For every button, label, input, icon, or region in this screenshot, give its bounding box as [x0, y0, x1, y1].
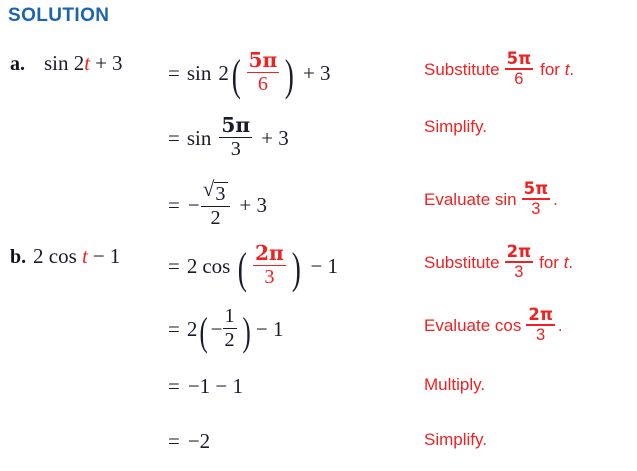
- reason-prefix: Substitute: [424, 253, 500, 273]
- rhs-plain-value: −1 − 1: [180, 374, 243, 399]
- fraction-numerator: 5π: [247, 50, 280, 72]
- reason-annotation: Simplify.: [424, 117, 487, 137]
- reason-annotation: Substitute 2π 3 for t.: [424, 245, 573, 281]
- fraction-2pi-over-3: 2π 3: [253, 243, 286, 287]
- rhs-plain-value: −2: [180, 429, 210, 454]
- rhs-tail: + 3: [233, 193, 267, 218]
- reason-prefix: Evaluate cos: [424, 316, 521, 336]
- lhs-variable-t: t: [82, 244, 88, 268]
- fraction-denominator: 3: [253, 265, 286, 288]
- rhs-function-sin: sin: [180, 126, 214, 151]
- reason-fraction-numerator: 5π: [505, 51, 534, 68]
- fraction-denominator: 6: [247, 72, 280, 95]
- reason-annotation: Evaluate sin 5π 3 .: [424, 182, 558, 218]
- lhs-constant: 3: [112, 51, 123, 75]
- radical-sign: √: [203, 179, 215, 200]
- rhs-expression-a1: = sin 2 ( 5π 6 ) + 3: [168, 51, 331, 95]
- reason-suffix: .: [553, 190, 558, 210]
- rhs-expression-b2: = 2 ( − 1 2 ) − 1: [168, 307, 284, 351]
- fraction-5pi-over-6: 5π 6: [247, 50, 280, 94]
- lhs-expression: 2 cos t−1: [33, 244, 120, 269]
- fraction-numerator: 1: [223, 306, 237, 328]
- equation-row: = − √ 3 2 + 3 Evaluate sin 5π 3 .: [0, 165, 637, 223]
- equation-row: = 2 ( − 1 2 ) − 1 Evaluate cos 2π 3 .: [0, 291, 637, 349]
- radicand: 3: [214, 182, 228, 205]
- equation-row: a. sin 2t+3 = sin 2 ( 5π 6 ) + 3 Substit…: [0, 35, 637, 93]
- rhs-coefficient: 2: [180, 254, 198, 279]
- fraction-denominator: 2: [201, 206, 231, 229]
- equals-sign: =: [168, 193, 180, 218]
- rhs-expression-a3: = − √ 3 2 + 3: [168, 181, 267, 229]
- equals-sign: =: [168, 317, 180, 342]
- equals-sign: =: [168, 374, 180, 399]
- reason-annotation: Substitute 5π 6 for t.: [424, 52, 574, 88]
- rhs-expression-a2: = sin 5π 3 + 3: [168, 116, 289, 160]
- minus-operator: −: [88, 244, 110, 268]
- rhs-tail: + 3: [255, 126, 289, 151]
- part-label-b: b.: [10, 246, 26, 269]
- reason-fraction-numerator: 5π: [522, 181, 551, 198]
- rhs-tail: + 3: [297, 61, 331, 86]
- equation-row: = −1 − 1 Multiply.: [0, 358, 637, 416]
- page-title: SOLUTION: [8, 5, 109, 27]
- reason-prefix: Simplify.: [424, 117, 487, 137]
- equation-row: = sin 5π 3 + 3 Simplify.: [0, 100, 637, 158]
- reason-fraction-denominator: 3: [505, 261, 534, 280]
- lhs-constant: 1: [110, 244, 121, 268]
- equation-row: = −2 Simplify.: [0, 413, 637, 471]
- reason-prefix: Substitute: [424, 60, 500, 80]
- radical-icon: √ 3: [203, 180, 229, 205]
- equals-sign: =: [168, 429, 180, 454]
- reason-fraction: 2π 3: [526, 307, 555, 343]
- equals-sign: =: [168, 61, 180, 86]
- equals-sign: =: [168, 254, 180, 279]
- reason-annotation: Evaluate cos 2π 3 .: [424, 308, 563, 344]
- rhs-tail: − 1: [253, 317, 284, 342]
- fraction-sqrt3-over-2: √ 3 2: [201, 180, 231, 228]
- rhs-function-cos: cos: [197, 254, 232, 279]
- reason-fraction-denominator: 3: [526, 324, 555, 343]
- negative-sign: −: [180, 193, 200, 218]
- reason-fraction: 5π 3: [522, 181, 551, 217]
- lhs-expression: sin 2t+3: [44, 51, 122, 76]
- fraction-numerator: 2π: [253, 243, 286, 265]
- reason-suffix: for t.: [540, 60, 574, 80]
- reason-fraction: 5π 6: [505, 51, 534, 87]
- rhs-expression-b1: = 2 cos ( 2π 3 ) − 1: [168, 244, 338, 288]
- equation-row: b. 2 cos t−1 = 2 cos ( 2π 3 ) − 1 Substi…: [0, 228, 637, 286]
- fraction-numerator: 5π: [219, 115, 252, 137]
- fraction-denominator: 2: [223, 328, 237, 351]
- reason-suffix: for t.: [539, 253, 573, 273]
- lhs-cos-text: 2 cos: [33, 244, 82, 268]
- fraction-1-over-2: 1 2: [223, 306, 237, 350]
- reason-annotation: Multiply.: [424, 375, 485, 395]
- reason-fraction-denominator: 6: [505, 68, 534, 87]
- reason-fraction-numerator: 2π: [526, 307, 555, 324]
- reason-prefix: Simplify.: [424, 430, 487, 450]
- negative-sign: −: [211, 317, 223, 342]
- fraction-denominator: 3: [219, 137, 252, 160]
- rhs-coefficient: 2: [180, 317, 198, 342]
- lhs-sin-text: sin 2: [44, 51, 84, 75]
- reason-annotation: Simplify.: [424, 430, 487, 450]
- reason-prefix: Evaluate sin: [424, 190, 517, 210]
- rhs-expression-b4: = −2: [168, 429, 210, 454]
- reason-prefix: Multiply.: [424, 375, 485, 395]
- part-label-a: a.: [10, 53, 25, 76]
- fraction-5pi-over-3: 5π 3: [219, 115, 252, 159]
- reason-fraction: 2π 3: [505, 244, 534, 280]
- plus-operator: +: [90, 51, 112, 75]
- reason-fraction-numerator: 2π: [505, 244, 534, 261]
- reason-fraction-denominator: 3: [522, 198, 551, 217]
- fraction-numerator: √ 3: [201, 180, 231, 206]
- rhs-coefficient: 2: [213, 61, 229, 86]
- rhs-tail: − 1: [303, 254, 338, 279]
- rhs-expression-b3: = −1 − 1: [168, 374, 243, 399]
- rhs-function-sin: sin: [180, 61, 214, 86]
- equals-sign: =: [168, 126, 180, 151]
- reason-suffix: .: [558, 316, 563, 336]
